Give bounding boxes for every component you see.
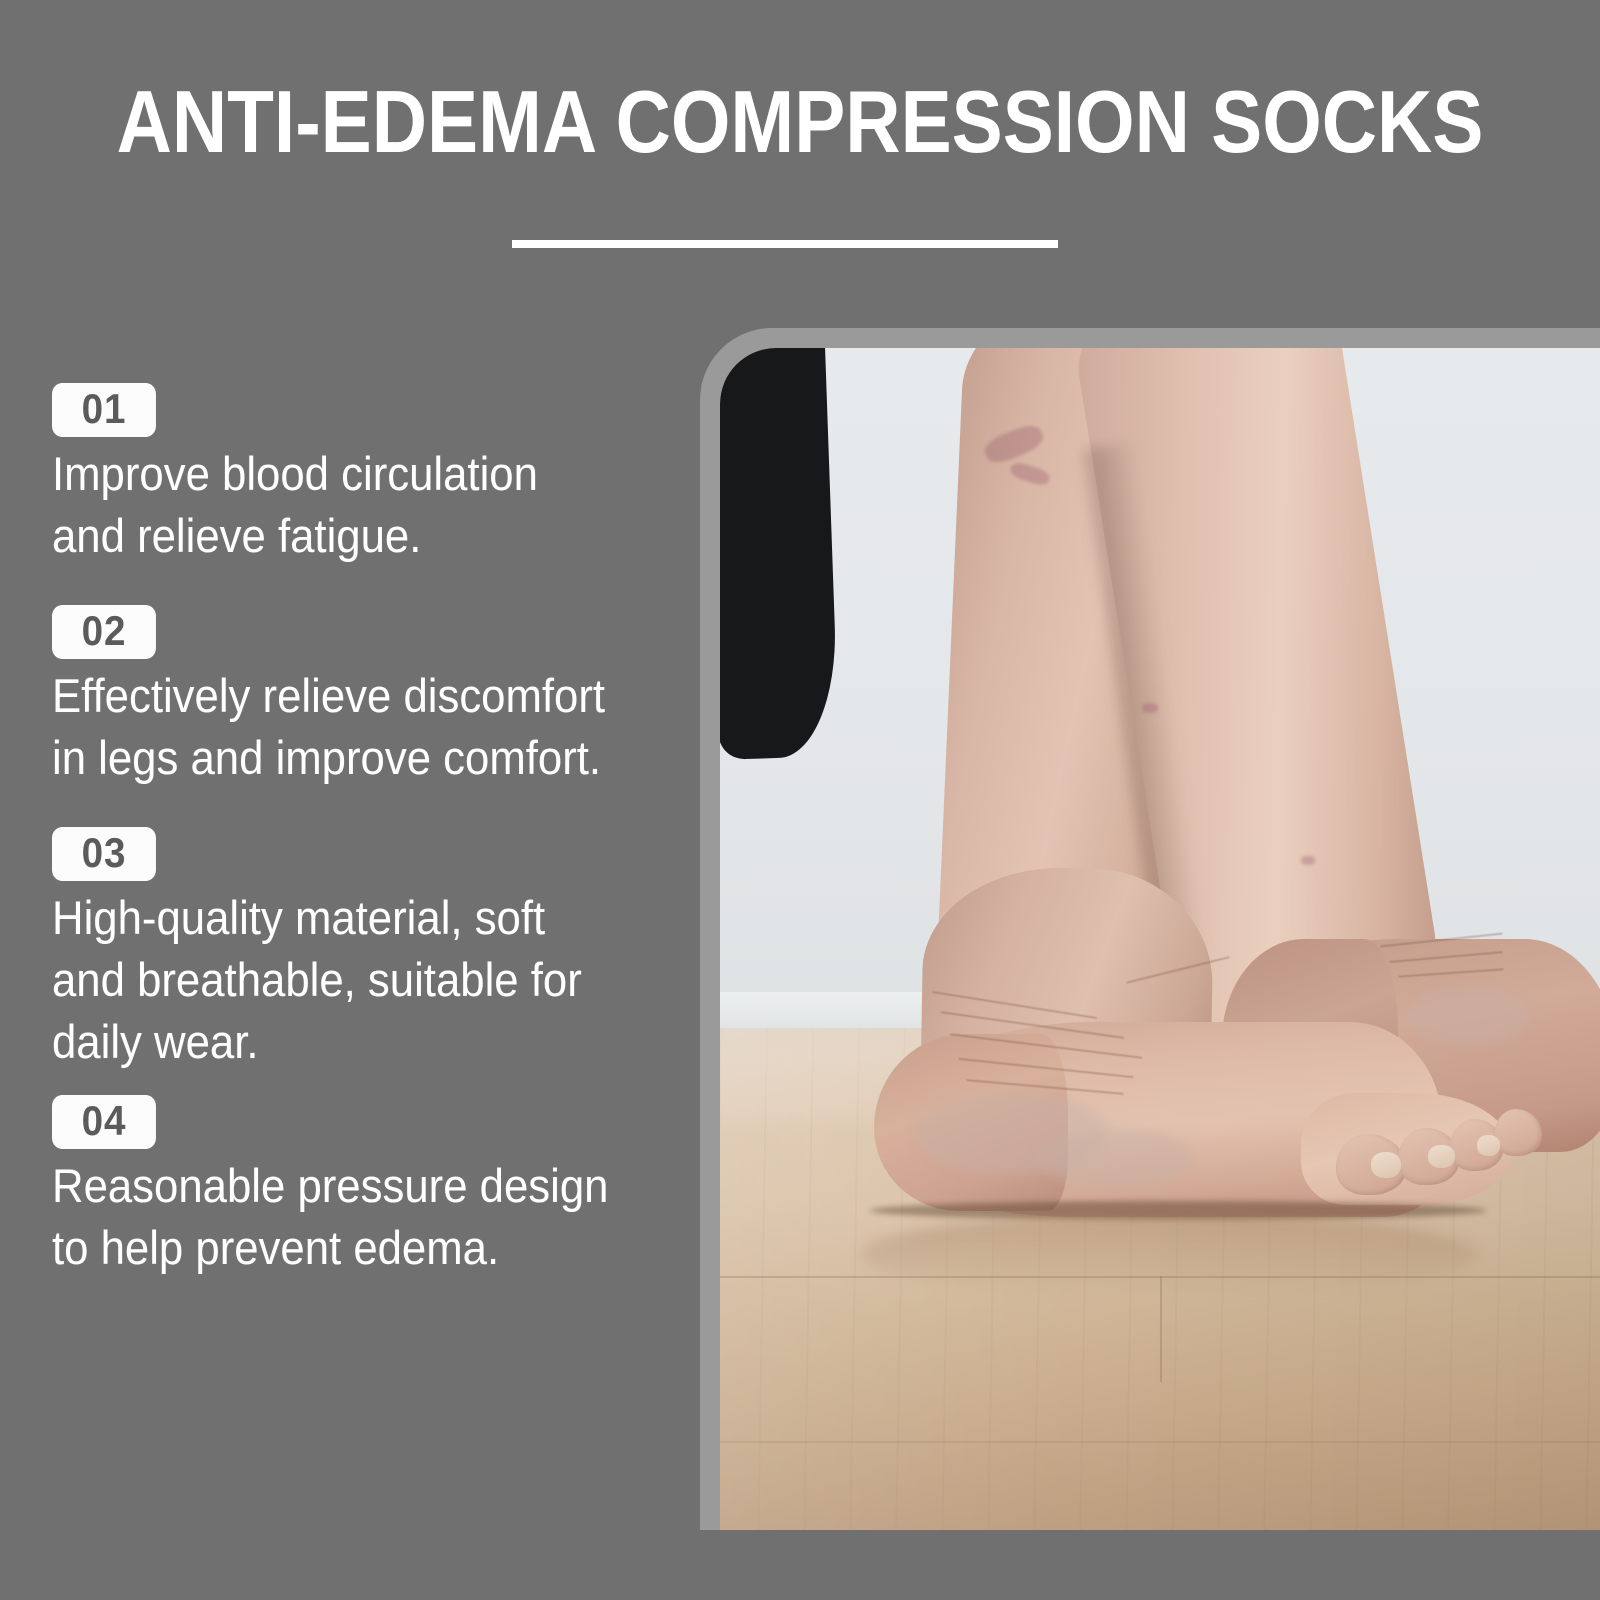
product-photo-feet-edema (720, 348, 1600, 1530)
feature-text: High-quality material, soft and breathab… (52, 887, 666, 1073)
feature-item-04: 04 Reasonable pressure design to help pr… (52, 1095, 712, 1279)
photo-toenail (1371, 1152, 1401, 1178)
feature-item-01: 01 Improve blood circulation and relieve… (52, 383, 712, 567)
feature-text: Improve blood circulation and relieve fa… (52, 443, 666, 567)
product-photo-panel (700, 328, 1600, 1530)
feature-number-badge: 01 (52, 383, 156, 437)
feature-item-02: 02 Effectively relieve discomfort in leg… (52, 605, 712, 789)
feature-number-badge: 02 (52, 605, 156, 659)
photo-plank-seam (720, 1441, 1600, 1443)
photo-toe (1494, 1109, 1542, 1156)
feature-number-badge: 03 (52, 827, 156, 881)
feature-text: Effectively relieve discomfort in legs a… (52, 665, 666, 789)
photo-toenail (1477, 1135, 1500, 1156)
page-title: ANTI-EDEMA COMPRESSION SOCKS (104, 78, 1496, 166)
photo-skin-vein (1301, 856, 1315, 865)
photo-dry-skin-patch (1406, 986, 1529, 1045)
photo-toenail (1428, 1145, 1454, 1169)
feature-text: Reasonable pressure design to help preve… (52, 1155, 666, 1279)
photo-dry-skin-patch (1037, 1128, 1195, 1187)
feature-item-03: 03 High-quality material, soft and breat… (52, 827, 712, 1073)
photo-floor-reflection (861, 1213, 1477, 1296)
page-title-block: ANTI-EDEMA COMPRESSION SOCKS (0, 78, 1600, 166)
product-photo-frame (720, 348, 1600, 1530)
feature-number-badge: 04 (52, 1095, 156, 1149)
feature-list: 01 Improve blood circulation and relieve… (52, 383, 712, 1279)
photo-skin-vein (1142, 703, 1158, 713)
title-divider (512, 240, 1058, 248)
photo-dark-object (720, 348, 839, 760)
